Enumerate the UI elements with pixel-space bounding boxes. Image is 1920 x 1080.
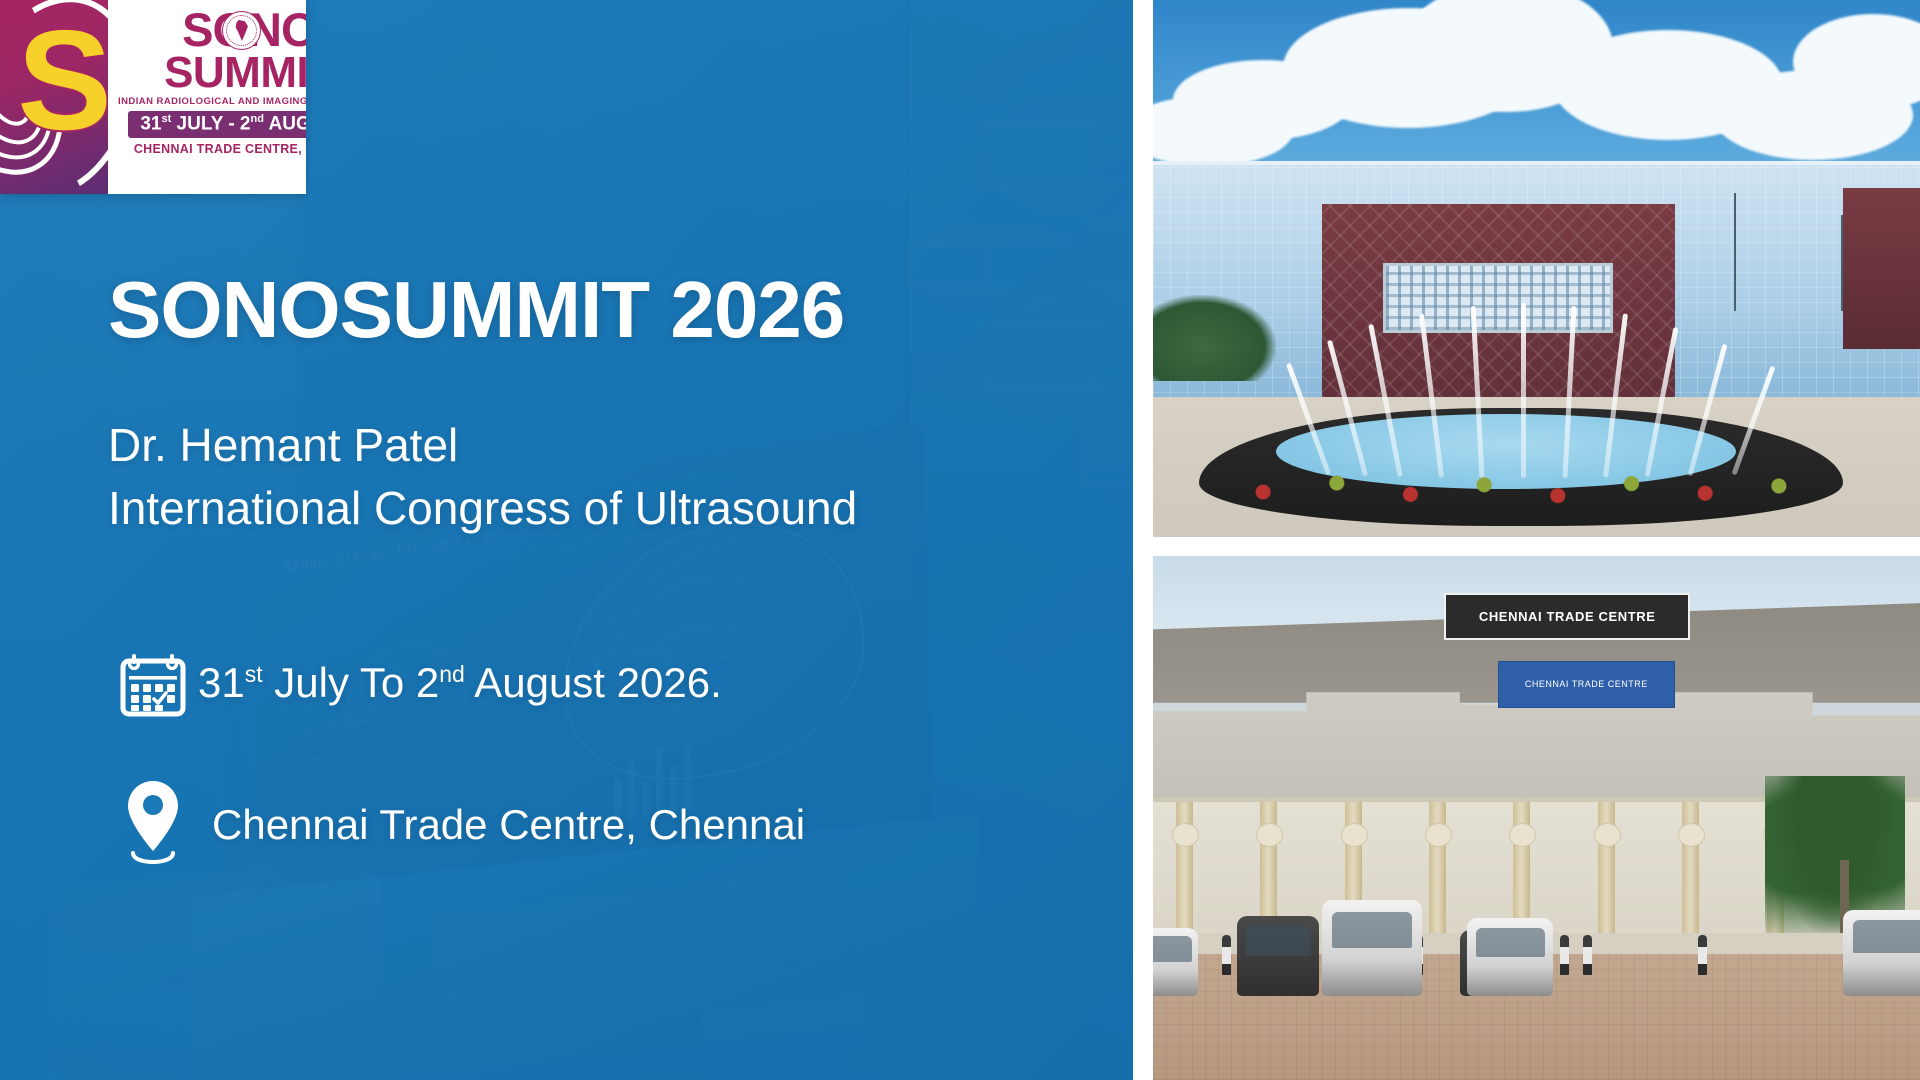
- event-venue-text: Chennai Trade Centre, Chennai: [198, 801, 805, 849]
- person: [1698, 935, 1707, 975]
- chennai-trade-centre-fountain-photo: [1153, 0, 1920, 537]
- india-map-icon: [234, 20, 249, 41]
- event-details: SONOSUMMIT 2026 Dr. Hemant Patel Interna…: [108, 270, 1108, 873]
- person: [1560, 935, 1569, 975]
- logo-association-line: INDIAN RADIOLOGICAL AND IMAGING ASSOCIAT…: [118, 96, 306, 107]
- parked-car: [1467, 918, 1553, 996]
- parked-car: [1237, 916, 1319, 996]
- event-venue-row: Chennai Trade Centre, Chennai: [108, 777, 1108, 873]
- speaker-block: Dr. Hemant Patel International Congress …: [108, 414, 1108, 539]
- building-sign-primary-text: CHENNAI TRADE CENTRE: [1479, 609, 1656, 624]
- left-info-panel: NEURO DIAGNOSTIC ANALYTICS: [0, 0, 1133, 1080]
- logo-word-summit: SUMMIT: [164, 53, 306, 93]
- parked-car: [1322, 900, 1422, 996]
- event-date-row: 31st July To 2nd August 2026.: [108, 649, 1108, 717]
- logo-word-sono: SONO: [182, 8, 306, 52]
- side-building: [1843, 188, 1920, 349]
- iria-seal-icon: [222, 11, 261, 50]
- flower-bed: [1214, 456, 1828, 515]
- entrance-screen-panel: [1383, 263, 1613, 333]
- logo-date-tail: AUG 2026: [264, 113, 306, 134]
- location-pin-icon: [108, 777, 198, 873]
- logo-date-mid: JULY - 2: [171, 113, 250, 134]
- person: [1583, 935, 1592, 975]
- logo-date-start-suffix: st: [162, 113, 172, 125]
- event-date-text: 31st July To 2nd August 2026.: [198, 659, 722, 707]
- calendar-icon: [108, 649, 198, 717]
- trees: [1153, 295, 1276, 381]
- logo-dates-banner: 31st JULY - 2nd AUG 2026: [128, 111, 306, 138]
- logo-venue-line: CHENNAI TRADE CENTRE, CHENNAI: [134, 142, 306, 156]
- person: [1222, 935, 1231, 975]
- pillar: [1598, 802, 1615, 954]
- pillar: [1682, 802, 1699, 954]
- street-lamp: [1841, 215, 1843, 312]
- date-day-start: 31: [198, 659, 245, 706]
- event-banner: NEURO DIAGNOSTIC ANALYTICS: [0, 0, 1920, 1080]
- speaker-name: Dr. Hemant Patel: [108, 414, 1108, 477]
- date-day-end-suffix: nd: [439, 661, 465, 687]
- street-lamp: [1734, 193, 1736, 311]
- water-jet: [1521, 303, 1526, 478]
- logo-soundwave-mark: S: [0, 0, 108, 194]
- building-sign-secondary: CHENNAI TRADE CENTRE: [1498, 661, 1674, 708]
- building-sign-secondary-text: CHENNAI TRADE CENTRE: [1525, 679, 1648, 689]
- parked-car: [1153, 928, 1198, 996]
- parked-car: [1843, 910, 1920, 996]
- event-subtitle: International Congress of Ultrasound: [108, 477, 1108, 540]
- date-middle: July To 2: [263, 659, 440, 706]
- logo-date-end-suffix: nd: [251, 113, 264, 125]
- logo-letter-s: S: [17, 22, 108, 140]
- pillar: [1429, 802, 1446, 954]
- logo-text-block: 2026 SONO SUMMIT INDIAN RADIOLOGICAL AND…: [108, 0, 306, 194]
- sonosummit-logo-badge: S 2026 SONO SUMMIT INDIAN RADIOLOGICAL A…: [0, 0, 306, 194]
- event-title: SONOSUMMIT 2026: [108, 270, 1108, 350]
- building-sign-primary: CHENNAI TRADE CENTRE: [1444, 593, 1689, 640]
- date-day-start-suffix: st: [245, 661, 263, 687]
- logo-date-start: 31: [140, 113, 161, 134]
- date-tail: August 2026.: [465, 659, 722, 706]
- chennai-trade-centre-entrance-photo: CHENNAI TRADE CENTRE CHENNAI TRADE CENTR…: [1153, 556, 1920, 1080]
